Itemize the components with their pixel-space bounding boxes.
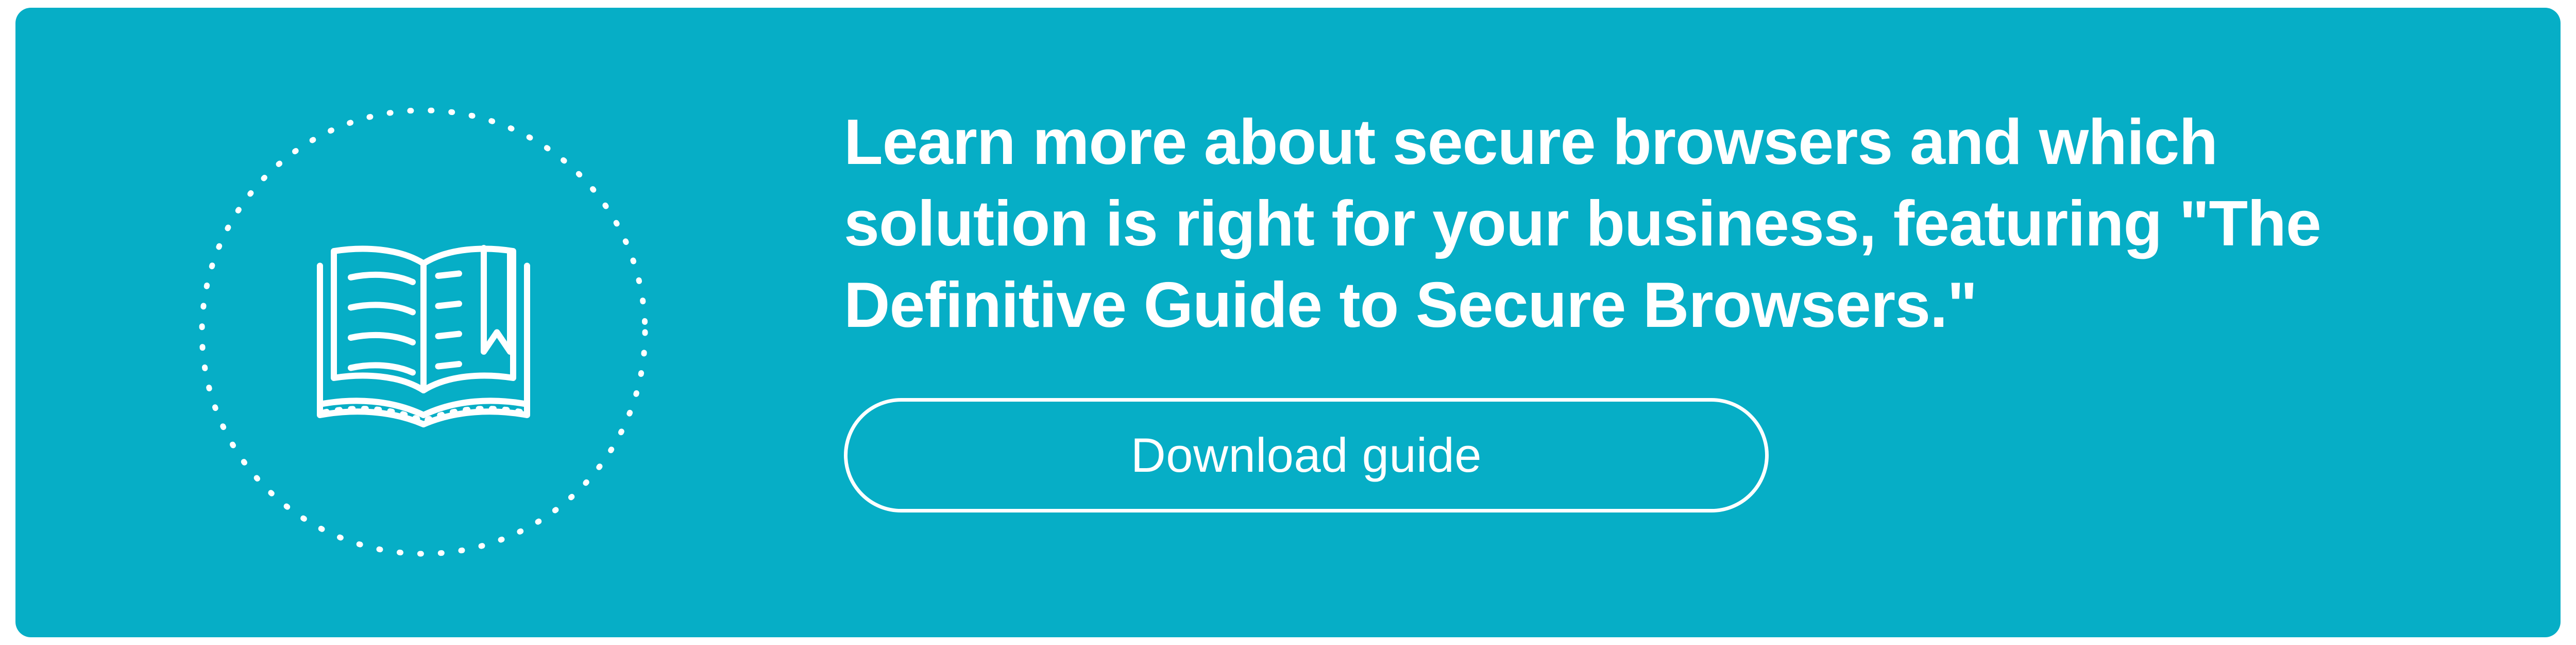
cta-heading-line: Learn more about secure browsers and whi…	[844, 102, 2467, 183]
cta-heading-line: solution is right for your business, fea…	[844, 183, 2467, 264]
download-guide-button[interactable]: Download guide	[844, 398, 1769, 512]
cta-media-column	[15, 8, 829, 637]
open-book-with-bookmark-icon	[308, 229, 539, 431]
cta-content-column: Learn more about secure browsers and whi…	[844, 8, 2530, 637]
cta-banner: Learn more about secure browsers and whi…	[15, 8, 2561, 637]
cta-heading-line: Definitive Guide to Secure Browsers."	[844, 264, 2467, 346]
cta-heading: Learn more about secure browsers and whi…	[844, 102, 2467, 346]
